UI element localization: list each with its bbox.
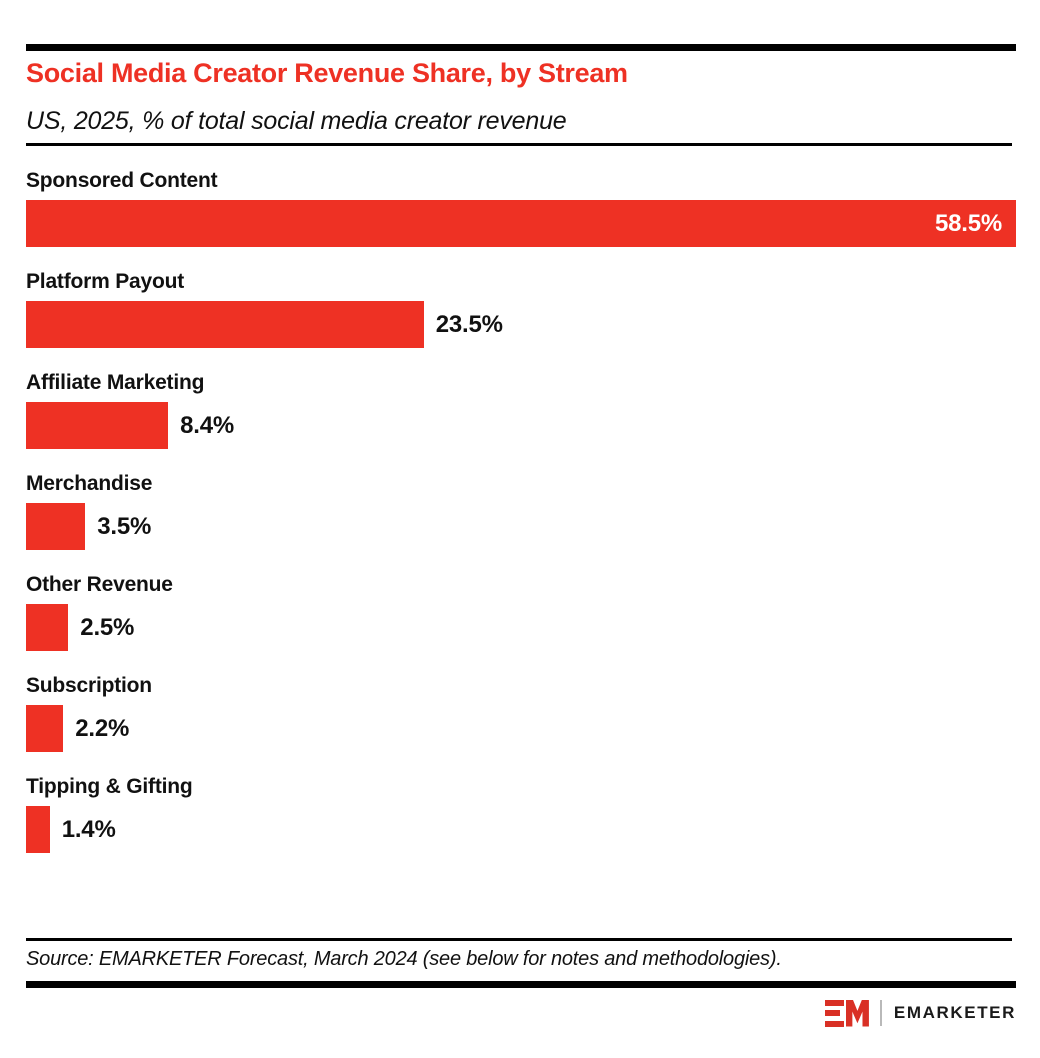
bar[interactable]: 58.5% xyxy=(26,200,1016,247)
bar-category-label: Other Revenue xyxy=(26,572,1016,604)
bar-track: 8.4%8.4% xyxy=(26,402,1016,449)
bar-value-label: 2.2% xyxy=(75,705,129,752)
footer-bottom-rule xyxy=(26,981,1016,988)
bar-row: Sponsored Content58.5%58.5% xyxy=(26,168,1016,269)
bar-category-label: Platform Payout xyxy=(26,269,1016,301)
em-monogram-icon xyxy=(825,1000,869,1027)
bar-track: 58.5%58.5% xyxy=(26,200,1016,247)
bar-row: Merchandise3.5%3.5% xyxy=(26,471,1016,572)
page-title: Social Media Creator Revenue Share, by S… xyxy=(26,56,1016,90)
bar[interactable]: 8.4% xyxy=(26,402,168,449)
footer-top-rule xyxy=(26,938,1012,941)
bar-track: 2.5%2.5% xyxy=(26,604,1016,651)
bar-category-label: Affiliate Marketing xyxy=(26,370,1016,402)
bar-row: Subscription2.2%2.2% xyxy=(26,673,1016,774)
bar-value-label: 8.4% xyxy=(180,402,234,449)
bar-track: 2.2%2.2% xyxy=(26,705,1016,752)
header-top-rule xyxy=(26,44,1016,51)
emarketer-logo: EMARKETER xyxy=(825,998,1016,1028)
chart-page: Social Media Creator Revenue Share, by S… xyxy=(0,0,1040,1058)
bar[interactable]: 2.5% xyxy=(26,604,68,651)
bar-track: 1.4%1.4% xyxy=(26,806,1016,853)
bar-track: 23.5%23.5% xyxy=(26,301,1016,348)
bar-value-label-inside: 58.5% xyxy=(935,210,1016,238)
brand-wordmark: EMARKETER xyxy=(894,1003,1016,1023)
bar-value-label: 3.5% xyxy=(97,503,151,550)
bar-track: 3.5%3.5% xyxy=(26,503,1016,550)
bar[interactable]: 2.2% xyxy=(26,705,63,752)
em-monogram-bar-bottom xyxy=(825,1021,844,1027)
bar-value-label: 23.5% xyxy=(436,301,503,348)
bar-row: Affiliate Marketing8.4%8.4% xyxy=(26,370,1016,471)
bar-category-label: Subscription xyxy=(26,673,1016,705)
chart-subtitle: US, 2025, % of total social media creato… xyxy=(26,105,1016,137)
bar[interactable]: 1.4% xyxy=(26,806,50,853)
logo-divider xyxy=(880,1000,882,1026)
bar[interactable]: 23.5% xyxy=(26,301,424,348)
source-note: Source: EMARKETER Forecast, March 2024 (… xyxy=(26,948,1016,971)
bar-value-label: 1.4% xyxy=(62,806,116,853)
bar-chart-plot: Sponsored Content58.5%58.5%Platform Payo… xyxy=(26,168,1016,875)
em-monogram-bar-mid xyxy=(825,1010,840,1016)
bar-row: Other Revenue2.5%2.5% xyxy=(26,572,1016,673)
bar-category-label: Merchandise xyxy=(26,471,1016,503)
em-monogram-m-shape xyxy=(846,1000,869,1027)
em-monogram-bar-top xyxy=(825,1000,844,1006)
bar[interactable]: 3.5% xyxy=(26,503,85,550)
header-bottom-rule xyxy=(26,143,1012,146)
bar-row: Tipping & Gifting1.4%1.4% xyxy=(26,774,1016,875)
bar-category-label: Sponsored Content xyxy=(26,168,1016,200)
bar-row: Platform Payout23.5%23.5% xyxy=(26,269,1016,370)
bar-category-label: Tipping & Gifting xyxy=(26,774,1016,806)
bar-value-label: 2.5% xyxy=(80,604,134,651)
